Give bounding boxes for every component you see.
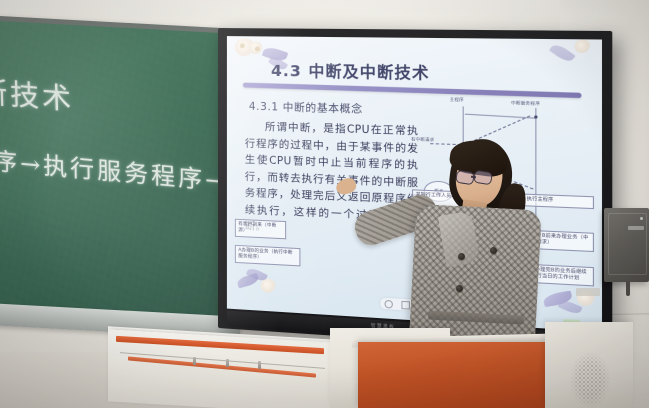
orange-lectern-front [358,342,548,408]
coat-button-2 [456,285,463,292]
coat-button-1 [458,253,465,260]
pointer-icon[interactable] [384,299,392,308]
coat-button-3 [490,247,497,254]
wall-control-box[interactable] [604,208,649,282]
wall-box-indicator-led [640,217,643,220]
cabinet-handle-3[interactable] [258,361,261,369]
diagram-top-link [465,114,536,119]
cabinet-handle-2[interactable] [226,359,229,367]
chalkboard-surface: 断技术 程序→执行服务程序→返回 [0,21,222,321]
callout-resume-plan: A办理B的业务（执行中断服务程序） [235,245,300,267]
diagram-label-isr: 中断服务程序 [511,100,540,107]
chalk-text-line-1: 断技术 [0,69,75,119]
teacher-glasses-right-lens [473,170,493,186]
slide-section-heading: 4.3.1 中断的基本概念 [249,99,363,117]
teacher-presenting [398,135,568,355]
wall-outlet-plate [576,288,600,296]
classroom-scene: 断技术 程序→执行服务程序→返回 [0,0,649,408]
speaker-perforation-pattern [566,352,614,408]
diagram-label-main-program: 主程序 [450,97,464,104]
wall-box-cable [626,282,630,296]
slide-title: 4.3 中断及中断技术 [271,59,430,84]
chalkboard: 断技术 程序→执行服务程序→返回 [0,16,228,329]
diagram-node-isr-entry [534,115,537,118]
callout-interrupt-source: 有客户到来（中断源） [235,219,286,240]
slide-title-underline [243,83,582,99]
wall-box-panel [608,213,647,275]
cabinet-handle-1[interactable] [193,357,196,365]
wall-box-vent [628,226,644,230]
